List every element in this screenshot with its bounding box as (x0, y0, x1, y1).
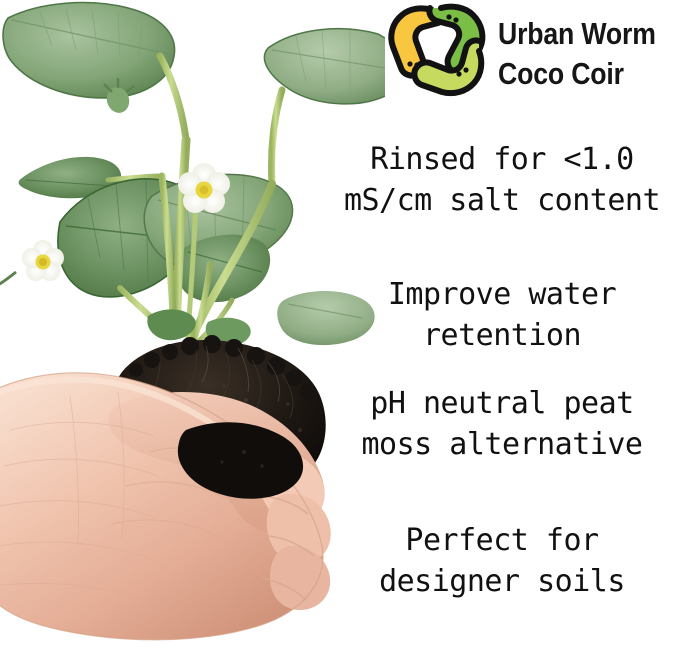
benefit-rinsed-salt-content: Rinsed for <1.0 mS/cm salt content (325, 139, 679, 221)
brand-name-line-2: Coco Coir (498, 54, 656, 94)
benefit-2-line-2: retention (325, 315, 679, 356)
benefit-4-line-2: designer soils (325, 561, 679, 602)
benefit-4-line-1: Perfect for (325, 520, 679, 561)
benefit-2-line-1: Improve water (325, 274, 679, 315)
brand-logo-block: Urban Worm Coco Coir (386, 2, 679, 106)
recycling-worms-triangle-logo-icon (386, 2, 490, 106)
benefit-1-line-1: Rinsed for <1.0 (325, 139, 679, 180)
benefit-ph-neutral-peat-alternative: pH neutral peat moss alternative (325, 383, 679, 465)
benefit-3-line-1: pH neutral peat (325, 383, 679, 424)
product-infographic: Urban Worm Coco Coir Rinsed for <1.0 mS/… (0, 0, 679, 653)
brand-name: Urban Worm Coco Coir (498, 14, 656, 94)
benefit-water-retention: Improve water retention (325, 274, 679, 356)
brand-name-line-1: Urban Worm (498, 14, 656, 54)
benefit-designer-soils: Perfect for designer soils (325, 520, 679, 602)
benefit-1-line-2: mS/cm salt content (325, 180, 679, 221)
benefit-3-line-2: moss alternative (325, 424, 679, 465)
